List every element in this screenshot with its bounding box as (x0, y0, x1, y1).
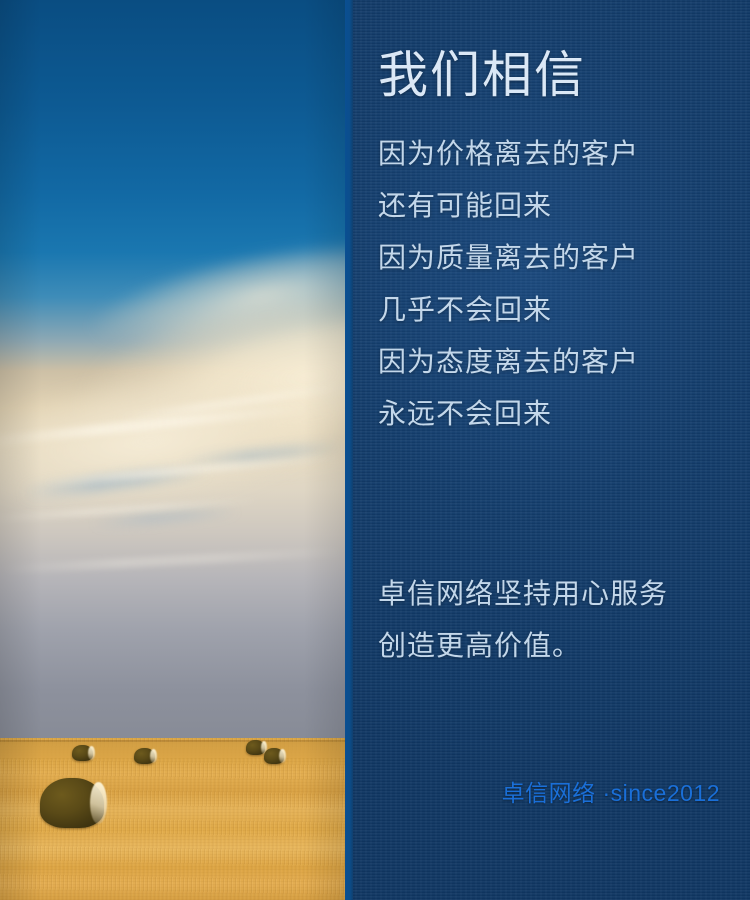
photo-vignette (0, 0, 345, 900)
verse-block: 因为价格离去的客户 还有可能回来 因为质量离去的客户 几乎不会回来 因为态度离去… (378, 128, 738, 440)
panel-content: 我们相信 因为价格离去的客户 还有可能回来 因为质量离去的客户 几乎不会回来 因… (345, 0, 750, 900)
verse-line: 因为价格离去的客户 (378, 128, 738, 180)
verse-line: 几乎不会回来 (378, 284, 738, 336)
verse-line: 永远不会回来 (378, 388, 738, 440)
background-photo (0, 0, 345, 900)
closing-line: 卓信网络坚持用心服务 (378, 568, 738, 620)
brand-signature: 卓信网络 ·since2012 (502, 774, 720, 808)
text-panel: 我们相信 因为价格离去的客户 还有可能回来 因为质量离去的客户 几乎不会回来 因… (345, 0, 750, 900)
verse-line: 还有可能回来 (378, 180, 738, 232)
verse-line: 因为态度离去的客户 (378, 336, 738, 388)
closing-line: 创造更高价值。 (378, 620, 738, 672)
closing-block: 卓信网络坚持用心服务 创造更高价值。 (378, 568, 738, 672)
page-title: 我们相信 (378, 46, 586, 104)
verse-line: 因为质量离去的客户 (378, 232, 738, 284)
poster-canvas: 我们相信 因为价格离去的客户 还有可能回来 因为质量离去的客户 几乎不会回来 因… (0, 0, 750, 900)
